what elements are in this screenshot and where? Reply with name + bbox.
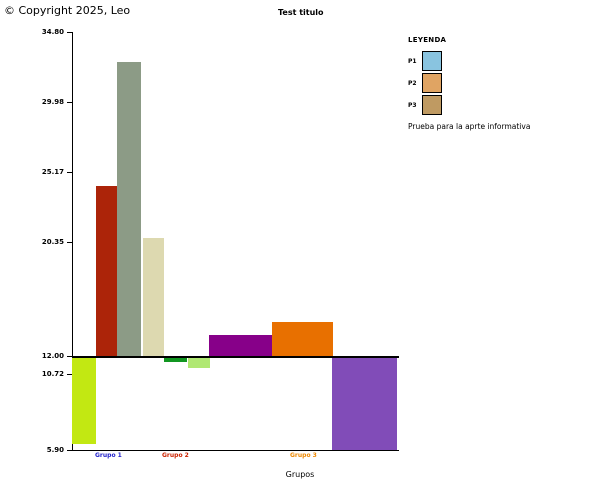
y-tick-label: 29.98: [30, 98, 64, 106]
bar: [72, 358, 96, 444]
bar: [209, 335, 272, 356]
bar: [96, 186, 117, 356]
legend-title: LEYENDA: [408, 36, 588, 44]
legend-item: P3: [408, 94, 588, 116]
legend-swatch: [422, 95, 442, 115]
bar: [164, 358, 187, 362]
x-tick-label: Grupo 2: [162, 452, 189, 459]
legend-item: P1: [408, 50, 588, 72]
copyright-notice: © Copyright 2025, Leo: [4, 4, 130, 17]
y-tick-label: 5.90: [30, 446, 64, 454]
y-tick-label: 34.80: [30, 28, 64, 36]
bar: [143, 238, 164, 356]
legend-item: P2: [408, 72, 588, 94]
legend-entries: P1P2P3: [408, 50, 588, 116]
x-tick-label: Grupo 1: [95, 452, 122, 459]
y-axis-label: Prueba de valores: [0, 118, 1, 190]
y-tick-label: 12.00: [30, 352, 64, 360]
bar: [117, 62, 141, 356]
baseline-zero-line: [72, 356, 399, 358]
y-tick-label: 20.35: [30, 238, 64, 246]
x-axis-line: [72, 450, 399, 451]
x-axis-label: Grupos: [0, 470, 600, 479]
bar: [272, 322, 333, 356]
legend-swatch: [422, 51, 442, 71]
y-tick-label: 10.72: [30, 370, 64, 378]
bar: [188, 358, 210, 368]
chart-title: Test titulo: [278, 8, 324, 17]
x-tick-label: Grupo 3: [290, 452, 317, 459]
bar: [332, 358, 397, 450]
legend-swatch: [422, 73, 442, 93]
y-tick-label: 25.17: [30, 168, 64, 176]
legend-item-label: P2: [408, 80, 422, 87]
legend: LEYENDA P1P2P3 Prueba para la aprte info…: [408, 36, 588, 131]
legend-item-label: P3: [408, 102, 422, 109]
legend-footer-text: Prueba para la aprte informativa: [408, 122, 588, 131]
legend-item-label: P1: [408, 58, 422, 65]
